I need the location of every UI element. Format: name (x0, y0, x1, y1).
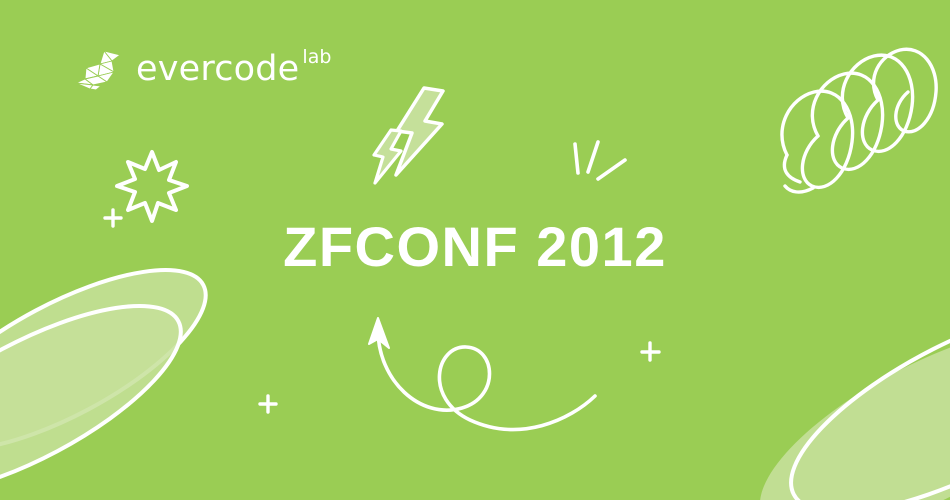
logo-superscript: lab (302, 48, 331, 67)
origami-bird-icon (74, 48, 126, 92)
looping-arrow-icon (369, 318, 595, 430)
logo-wordmark: evercode (136, 46, 299, 92)
lightning-bolt-small-icon (374, 130, 401, 183)
zfconf-banner: evercode lab ZFCONF 2012 (0, 0, 950, 500)
starburst-icon (117, 152, 187, 221)
ellipse-rings-right-icon (732, 263, 950, 500)
evercode-lab-logo[interactable]: evercode lab (74, 46, 331, 94)
speed-lines-icon (575, 142, 625, 179)
page-title: ZFCONF 2012 (0, 214, 950, 280)
plus-marker-2-icon (260, 396, 276, 412)
plus-marker-3-icon (642, 343, 659, 360)
logo-text: evercode lab (136, 46, 331, 92)
spiral-coil-icon (782, 49, 936, 192)
lightning-bolt-large-icon (396, 88, 443, 175)
